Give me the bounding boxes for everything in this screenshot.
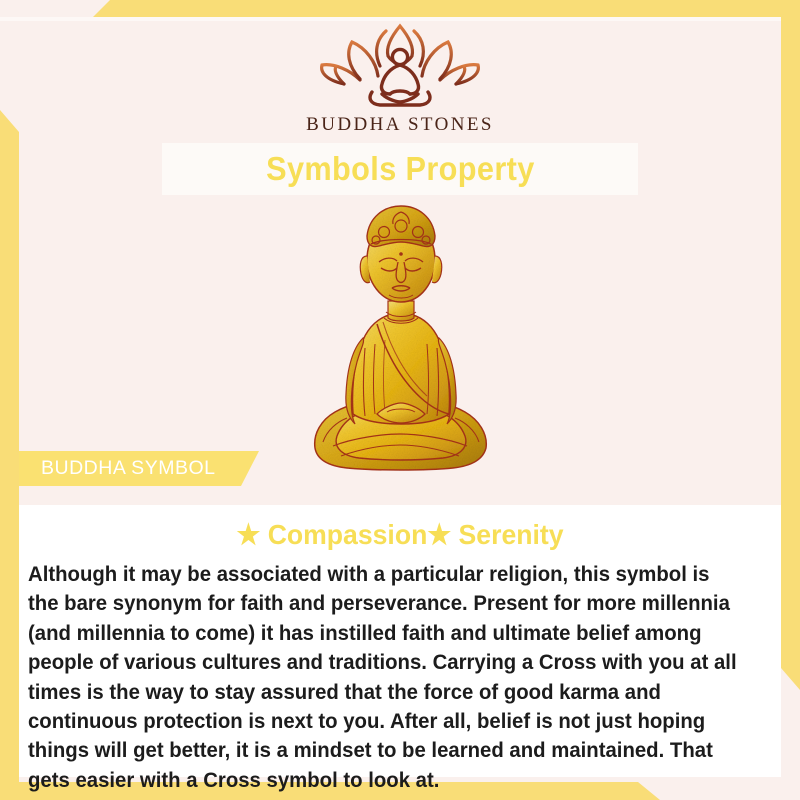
section-ribbon-label: BUDDHA SYMBOL: [19, 457, 215, 480]
poster-canvas: BUDDHA STONES Symbols Property: [0, 0, 800, 800]
frame-band-top: [0, 0, 800, 17]
lotus-meditation-icon: [310, 22, 490, 108]
seated-buddha-statue-icon: [293, 198, 508, 490]
frame-inner-edge: [0, 17, 781, 21]
section-ribbon: BUDDHA SYMBOL: [19, 451, 259, 486]
brand-header: BUDDHA STONES: [0, 22, 800, 136]
page-title: Symbols Property: [266, 150, 535, 188]
content-panel: ★ Compassion★ Serenity Although it may b…: [19, 505, 781, 777]
brand-name: BUDDHA STONES: [306, 114, 494, 136]
title-banner: Symbols Property: [162, 143, 638, 195]
description-paragraph: Although it may be associated with a par…: [28, 560, 739, 795]
artwork-stage: [0, 198, 800, 493]
attributes-heading: ★ Compassion★ Serenity: [38, 518, 762, 551]
